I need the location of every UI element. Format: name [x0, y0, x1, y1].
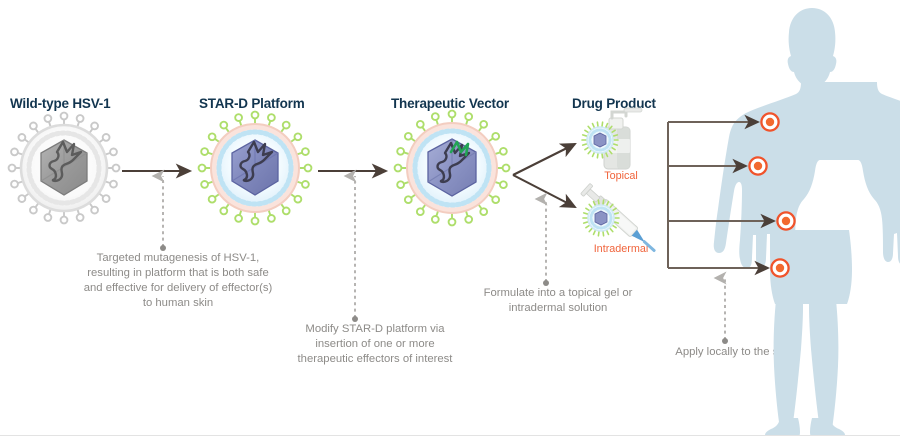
mini-virus-topical: [582, 122, 618, 158]
mini-virus-intradermal: [583, 200, 619, 236]
virus-particle-star-d-platform: [199, 112, 312, 225]
virus-particle-therapeutic-vector: [395, 111, 510, 226]
virus-particles-layer: [0, 0, 900, 436]
diagram-canvas: Wild-type HSV-1 STAR-D Platform Therapeu…: [0, 0, 900, 436]
virus-particle-wild-type-hsv1: [9, 113, 120, 224]
